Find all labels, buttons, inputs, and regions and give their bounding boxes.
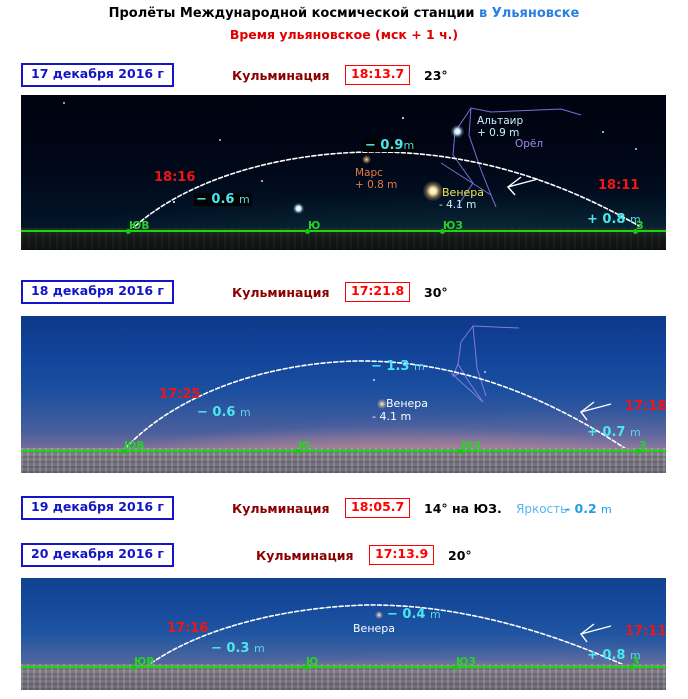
peak-mag-4: − 0.4 m [387,608,441,621]
culmination-time-2: 17:21.8 [345,282,410,302]
object-label-venus-4: Венера [353,623,395,634]
horizon-line-2 [21,450,666,452]
start-time-2: 17:25 [159,388,200,401]
object-label-altair: Альтаир [477,116,523,127]
object-label-mars: Марс [355,168,383,179]
object-label-aquila: Орёл [515,139,543,150]
culmination-time-4: 17:13.9 [369,545,434,565]
start-mag-2: − 0.6 m [197,406,251,419]
date-box-1: 17 декабря 2016 г [21,63,174,87]
object-mag-mars: + 0.8 m [355,180,397,191]
date-box-4: 20 декабря 2016 г [21,543,174,567]
page-title: Пролёты Международной космической станци… [0,6,688,21]
horizon-label-w-4: З [632,657,639,668]
venus-glow-4 [375,611,383,619]
end-time-4: 17:11 [625,625,666,638]
culmination-label-3: Кульминация [232,501,330,516]
object-label-venus-2: Венера [386,398,428,409]
horizon-label-w: З [636,221,643,232]
date-box-2: 18 декабря 2016 г [21,280,174,304]
culmination-label-4: Кульминация [256,548,354,563]
page-title-main: Пролёты Международной космической станци… [109,6,475,21]
elevation-3: 14° на ЮЗ. [424,501,502,516]
horizon-label-sw-4: ЮЗ [456,657,476,668]
horizon-line-4 [21,666,666,668]
horizon-label-s-2: Ю [298,441,310,452]
row-header-3: 19 декабря 2016 г Кульминация 18:05.7 14… [0,496,688,522]
elevation-2: 30° [424,285,448,300]
iss-pass-page: Пролёты Международной космической станци… [0,0,688,699]
elevation-1: 23° [424,68,448,83]
culmination-time-3: 18:05.7 [345,498,410,518]
mars-glow [362,155,371,164]
object-mag-venus: - 4.1 m [439,200,476,211]
row-header-2: 18 декабря 2016 г Кульминация 17:21.8 30… [0,280,688,306]
end-time-2: 17:18 [625,400,666,413]
row-header-1: 17 декабря 2016 г Кульминация 18:13.7 23… [0,63,688,89]
horizon-line-1 [21,230,666,232]
brightness-value-3: - 0.2 m [565,501,612,516]
end-mag-2: + 0.7 m [587,426,641,439]
elevation-4: 20° [448,548,472,563]
date-box-3: 19 декабря 2016 г [21,496,174,520]
peak-mag-1: − 0.9m [363,139,416,152]
horizon-label-s-4: Ю [306,657,318,668]
peak-mag-2: − 1.3 m [371,360,425,373]
object-label-venus: Венера [442,187,484,198]
venus-glow [423,181,443,201]
culmination-label-2: Кульминация [232,285,330,300]
horizon-label-se-4: ЮВ [134,657,154,668]
page-subtitle: Время ульяновское (мск + 1 ч.) [0,27,688,42]
end-mag-1: + 0.8 m [587,213,641,226]
page-title-location: в Ульяновске [479,6,579,21]
iss-track-1 [21,95,666,250]
horizon-label-s: Ю [308,221,320,232]
start-time-4: 17:16 [167,622,208,635]
culmination-label-1: Кульминация [232,68,330,83]
start-mag-1: − 0.6 m [194,193,252,206]
object-mag-venus-2: - 4.1 m [372,411,411,422]
horizon-label-sw-2: ЮЗ [461,441,481,452]
horizon-label-se-2: ЮВ [124,441,144,452]
sky-panel-2: 17:25 − 0.6 m − 1.3 m 17:18 + 0.7 m Вене… [21,316,666,473]
horizon-label-w-2: З [639,441,646,452]
altair-glow [451,125,464,138]
horizon-label-sw: ЮЗ [443,221,463,232]
sky-panel-1: 18:16 − 0.6 m − 0.9m 18:11 + 0.8 m Альта… [21,95,666,250]
horizon-label-se: ЮВ [129,221,149,232]
star-glow [293,203,304,214]
sky-panel-4: 17:16 − 0.3 m − 0.4 m 17:11 + 0.8 m Вене… [21,578,666,690]
brightness-label-3: Яркость [516,502,567,516]
row-header-4: 20 декабря 2016 г Кульминация 17:13.9 20… [0,543,688,569]
end-time-1: 18:11 [598,179,639,192]
object-mag-altair: + 0.9 m [477,128,519,139]
start-time-1: 18:16 [154,171,195,184]
start-mag-4: − 0.3 m [211,642,265,655]
culmination-time-1: 18:13.7 [345,65,410,85]
